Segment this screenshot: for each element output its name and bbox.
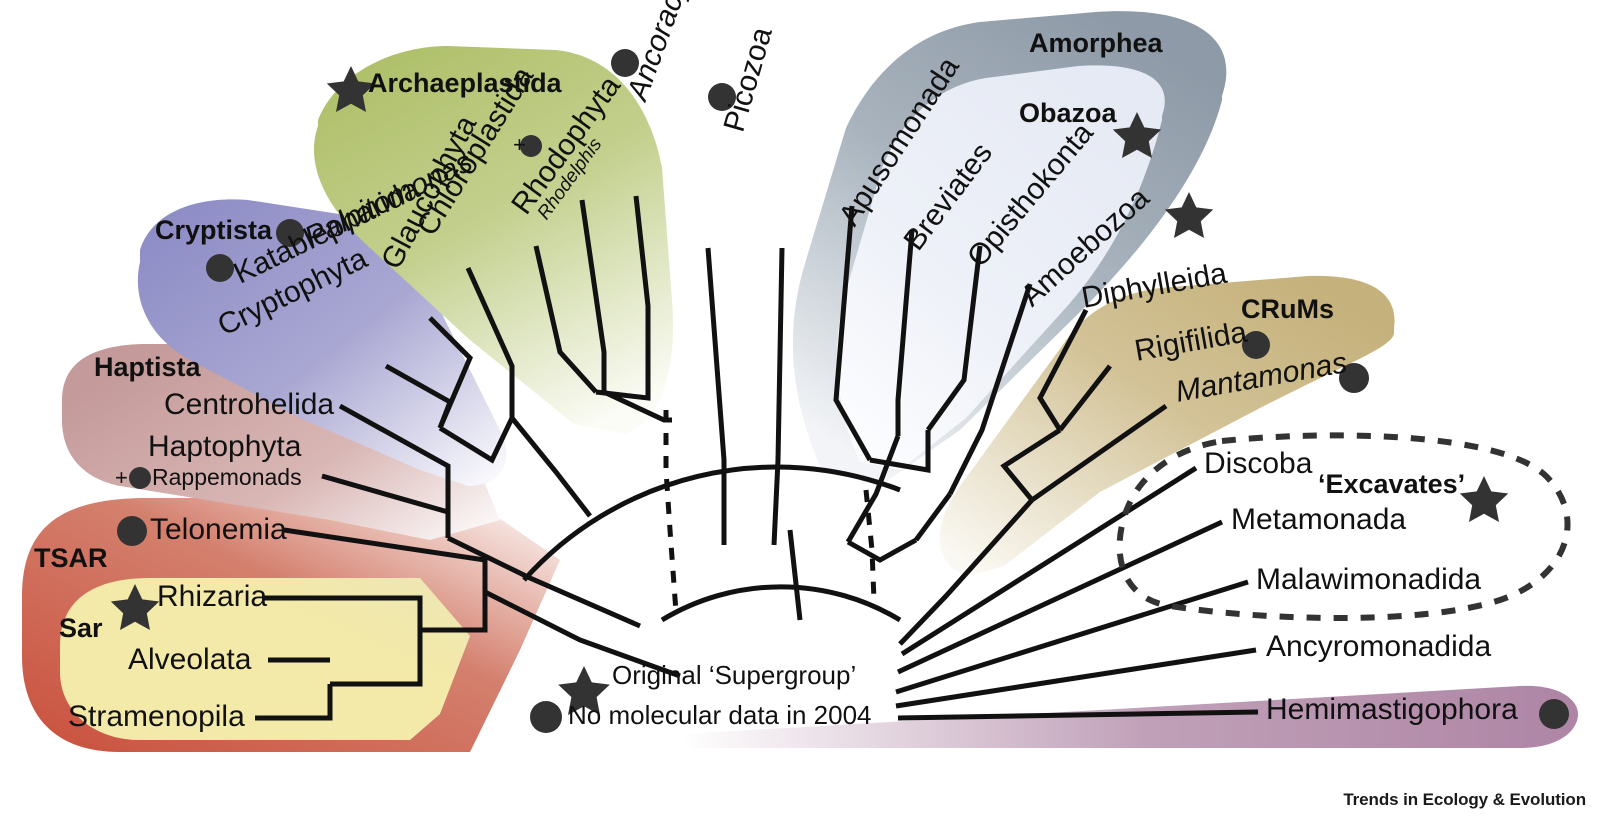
taxon-label-rhizaria: Rhizaria	[157, 582, 267, 612]
taxon-label-rhodelphis-plus: +	[513, 134, 526, 156]
taxon-label-alveolata: Alveolata	[128, 645, 251, 675]
legend-dot-label: No molecular data in 2004	[568, 700, 872, 731]
taxon-label-hemimastigophora: Hemimastigophora	[1266, 695, 1518, 725]
dashed-archaeplastida-link	[666, 410, 676, 612]
taxon-label-stramenopila: Stramenopila	[68, 702, 245, 732]
group-label-sar: Sar	[59, 615, 103, 642]
figure-canvas: Archaeplastida Rhodophyta Rhodelphis + C…	[0, 0, 1600, 824]
root-arc-outer	[524, 467, 900, 580]
taxon-label-haptophyta: Haptophyta	[148, 432, 301, 462]
branch-malawimonadida	[896, 582, 1248, 692]
branch-picozoa	[774, 248, 782, 545]
group-label-cryptista: Cryptista	[155, 217, 272, 244]
taxon-label-discoba: Discoba	[1204, 449, 1312, 479]
root-stem-left	[790, 530, 800, 620]
branch-cryptista-stem	[512, 418, 590, 516]
circle-icon-rappemonads	[129, 467, 151, 489]
legend-row-star: Original ‘Supergroup’	[612, 660, 856, 691]
circle-icon-katablepharida	[206, 254, 234, 282]
star-icon-excavates	[1460, 476, 1508, 522]
circle-icon-legend	[530, 701, 562, 733]
group-label-haptista: Haptista	[94, 354, 201, 381]
legend-row-dot: No molecular data in 2004	[568, 700, 872, 731]
journal-credit: Trends in Ecology & Evolution	[1343, 790, 1586, 810]
group-label-crums: CRuMs	[1241, 296, 1334, 323]
circle-icon-telonemia	[117, 516, 147, 546]
branch-ancyromonadida	[896, 650, 1256, 706]
taxon-label-telonemia: Telonemia	[150, 515, 287, 545]
taxon-label-centrohelida: Centrohelida	[164, 390, 334, 420]
taxon-label-rappemonads-plus: +	[115, 467, 128, 489]
group-label-excavates: ‘Excavates’	[1318, 471, 1465, 498]
branch-amorphea-node	[848, 540, 916, 560]
branch-ancoracysta	[708, 248, 724, 545]
group-label-amorphea: Amorphea	[1029, 30, 1163, 57]
circle-icon-hemimastigophora	[1539, 699, 1569, 729]
legend-star-label: Original ‘Supergroup’	[612, 660, 856, 691]
taxon-label-malawimonadida: Malawimonadida	[1256, 565, 1481, 595]
root-arc-inner	[662, 587, 900, 620]
group-label-tsar: TSAR	[34, 545, 108, 572]
taxon-label-ancyromonadida: Ancyromonadida	[1266, 632, 1491, 662]
taxon-label-metamonada: Metamonada	[1231, 505, 1406, 535]
taxon-label-rappemonads: Rappemonads	[152, 466, 302, 489]
